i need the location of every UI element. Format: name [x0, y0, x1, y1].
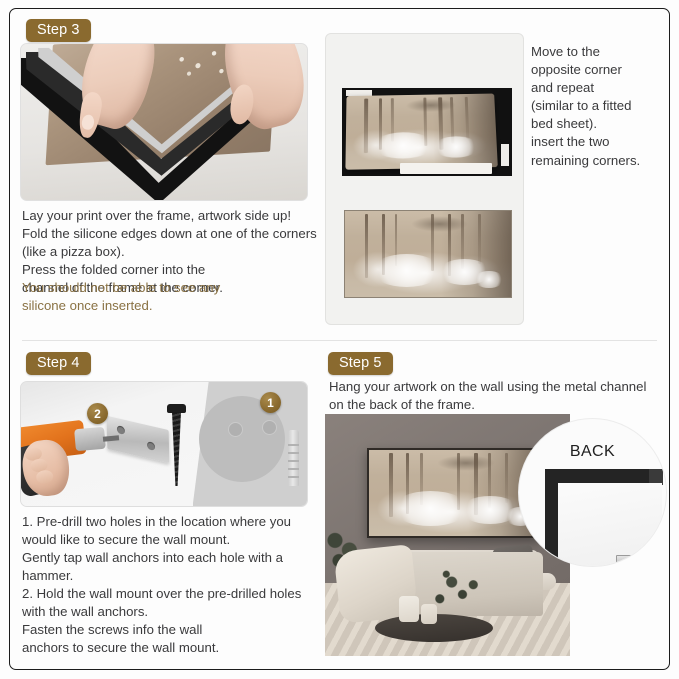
artwork-canopy: [437, 455, 495, 470]
back-callout-label: BACK: [519, 443, 666, 461]
forest-artwork-image: [345, 211, 511, 297]
artwork-folded-over-frame: [342, 88, 512, 176]
artwork-flat-print: [344, 210, 512, 298]
step-3-main-photo: [20, 43, 308, 201]
forest-artwork-image: [369, 450, 539, 536]
callout-number-2: 2: [87, 403, 108, 424]
artwork-blossom: [393, 491, 468, 525]
candle-vase: [399, 596, 419, 622]
decor-branch: [429, 568, 483, 612]
artwork-blossom: [373, 132, 434, 158]
artwork-tree-trunk: [364, 99, 368, 153]
anchor-rib: [288, 460, 299, 462]
screw: [171, 404, 182, 486]
step-3-side-note: Move to the opposite corner and repeat (…: [531, 43, 669, 170]
frame-back-panel: [558, 483, 662, 566]
anchor-rib: [288, 444, 299, 446]
folded-print-sheet: [345, 94, 497, 170]
screw-head: [167, 404, 186, 413]
frame-white-edge-bottom: [400, 163, 492, 174]
finger: [35, 469, 54, 484]
artwork-blossom: [372, 254, 442, 287]
step-5-text: Hang your artwork on the wall using the …: [329, 378, 649, 414]
artwork-tree-trunk: [365, 214, 369, 278]
step-3-text-highlight: You should not be able to see any silico…: [22, 279, 318, 315]
frame-white-edge-right: [501, 144, 509, 166]
anchor-rib: [288, 452, 299, 454]
pre-drilled-hole: [262, 420, 277, 435]
forest-artwork-image: [345, 94, 497, 170]
step-4-badge: Step 4: [26, 352, 91, 375]
pre-drilled-hole: [228, 422, 243, 437]
step-4-illustration: 2 1: [20, 381, 308, 507]
artwork-tree-trunk: [478, 214, 481, 264]
callout-number-1: 1: [260, 392, 281, 413]
step-4-text-item-1: 1. Pre-drill two holes in the location w…: [22, 513, 322, 585]
section-divider: [22, 340, 657, 341]
channel-hole: [626, 560, 631, 565]
artwork-canopy: [411, 216, 467, 231]
instruction-sheet: Step 3 Lay your print over the frame, ar…: [0, 0, 679, 679]
bracket-hole: [147, 441, 155, 451]
power-drill-chuck: [74, 427, 106, 452]
wall-anchor: [288, 430, 299, 486]
bracket-hole: [117, 425, 125, 435]
step-3-badge: Step 3: [26, 19, 91, 42]
anchor-rib: [288, 468, 299, 470]
metal-hanging-channel: [616, 555, 666, 566]
screw-shaft: [172, 412, 181, 486]
thumb: [228, 83, 257, 126]
step-3-artwork-card: [325, 33, 524, 325]
hung-artwork-frame: [367, 448, 541, 538]
anchor-rib: [288, 476, 299, 478]
artwork-tree-trunk: [505, 453, 508, 503]
frame-back-callout: BACK: [519, 419, 666, 566]
step-4-text-item-2: 2. Hold the wall mount over the pre-dril…: [22, 585, 322, 657]
step-5-badge: Step 5: [328, 352, 393, 375]
